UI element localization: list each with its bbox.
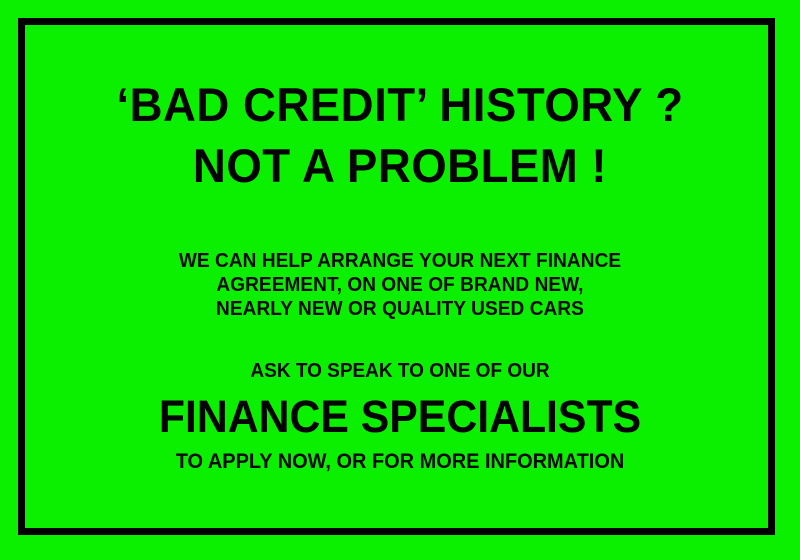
body-line-3: NEARLY NEW OR QUALITY USED CARS: [44, 297, 757, 321]
cta-tail-text: TO APPLY NOW, OR FOR MORE INFORMATION: [44, 450, 757, 474]
headline-block: ‘BAD CREDIT’ HISTORY ? NOT A PROBLEM !: [25, 77, 775, 194]
headline-line-2: NOT A PROBLEM !: [36, 138, 764, 193]
poster-content: ‘BAD CREDIT’ HISTORY ? NOT A PROBLEM ! W…: [25, 25, 775, 535]
call-to-action-block: ASK TO SPEAK TO ONE OF OUR FINANCE SPECI…: [25, 359, 775, 474]
body-line-2: AGREEMENT, ON ONE OF BRAND NEW,: [44, 273, 757, 297]
finance-advert-poster: ‘BAD CREDIT’ HISTORY ? NOT A PROBLEM ! W…: [0, 0, 800, 560]
body-line-1: WE CAN HELP ARRANGE YOUR NEXT FINANCE: [44, 249, 757, 273]
cta-lead-text: ASK TO SPEAK TO ONE OF OUR: [44, 359, 757, 383]
body-copy-block: WE CAN HELP ARRANGE YOUR NEXT FINANCE AG…: [25, 249, 775, 321]
headline-line-1: ‘BAD CREDIT’ HISTORY ?: [36, 77, 764, 132]
cta-headline-finance-specialists: FINANCE SPECIALISTS: [44, 393, 757, 440]
